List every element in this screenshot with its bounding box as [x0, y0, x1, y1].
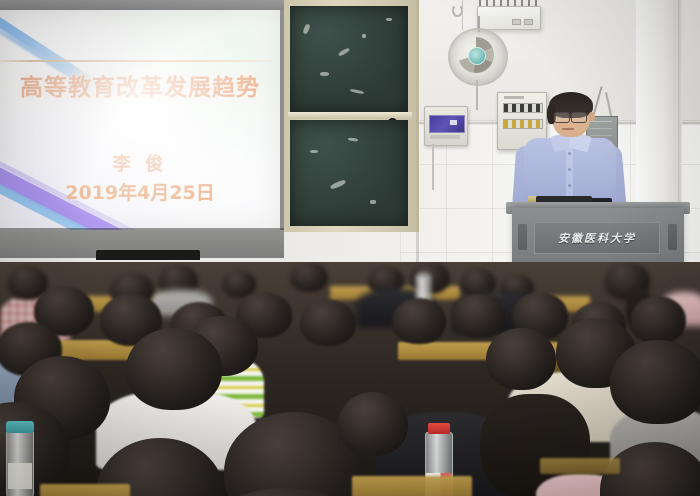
eyeglasses-bridge — [568, 115, 572, 116]
audience-head — [300, 300, 356, 346]
control-panel-display — [429, 115, 465, 133]
screen-top-bar — [0, 0, 284, 10]
screen-bottom-notch — [96, 250, 200, 260]
wall-control-panel[interactable] — [424, 106, 468, 146]
podium-side-vent-left — [518, 224, 527, 250]
control-panel-cable — [432, 144, 434, 190]
audience-head — [338, 392, 408, 456]
audience-seating-area — [0, 262, 700, 496]
speaker-mouth — [562, 128, 574, 130]
desk-row — [540, 458, 620, 474]
blackboard-panel-top — [290, 6, 408, 112]
ceiling-mounted-unit — [477, 6, 541, 30]
audience-head — [610, 340, 700, 424]
slide-title: 高等教育改革发展趋势 — [0, 68, 280, 102]
projection-screen-frame: 高等教育改革发展趋势 李 俊 2019年4月25日 — [0, 0, 284, 258]
audience-head — [452, 294, 506, 338]
audience-head — [630, 296, 686, 344]
fan-cord — [476, 80, 478, 110]
slide-divider-line — [0, 60, 272, 62]
audience-head — [486, 328, 556, 390]
speaker-shirt-placket — [566, 140, 573, 202]
slide-author: 李 俊 — [0, 150, 280, 176]
eyeglasses-left-lens-icon — [554, 112, 570, 123]
breaker-label — [504, 96, 524, 99]
fan-hub-icon — [468, 47, 486, 65]
eyeglasses-right-lens-icon — [571, 112, 587, 123]
hanging-wire — [462, 0, 463, 30]
lecture-hall-scene: 高等教育改革发展趋势 李 俊 2019年4月25日 — [0, 0, 700, 496]
speaker-ear — [588, 112, 595, 122]
blackboard — [284, 0, 419, 232]
audience-head — [126, 328, 222, 410]
breaker-switch-row — [503, 119, 543, 129]
audience-head — [290, 262, 328, 292]
presentation-slide: 高等教育改革发展趋势 李 俊 2019年4月25日 — [0, 10, 280, 230]
desk-row — [40, 484, 130, 496]
wall-fan — [448, 28, 506, 84]
teal-water-bottle — [6, 430, 34, 496]
podium-nameplate-text: 安徽医科大学 — [558, 230, 636, 246]
breaker-switch-row — [503, 103, 543, 113]
audience-head — [392, 298, 446, 344]
desk-row — [352, 476, 472, 496]
slide-date: 2019年4月25日 — [0, 178, 280, 205]
blackboard-panel-bottom — [290, 120, 408, 226]
podium-side-vent-right — [668, 224, 677, 250]
podium-nameplate: 安徽医科大学 — [534, 222, 660, 254]
